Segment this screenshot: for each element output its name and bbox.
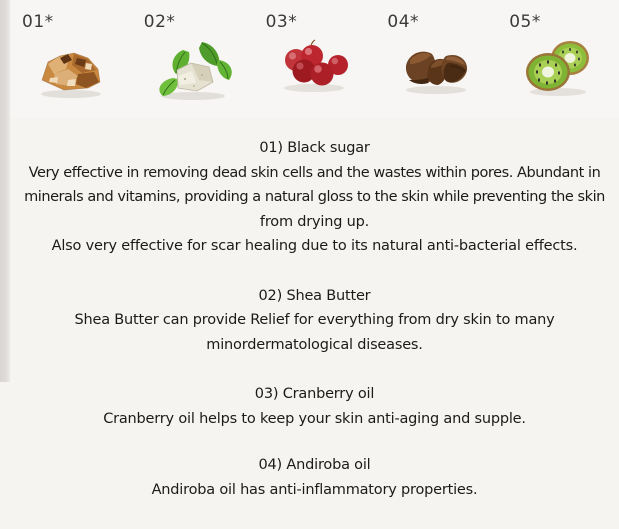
section-cranberry-oil: 03) Cranberry oil Cranberry oil helps to… — [10, 382, 619, 431]
left-gutter-strip — [0, 0, 10, 382]
kiwi-icon — [497, 36, 619, 108]
section-andiroba-oil: 04) Andiroba oil Andiroba oil has anti-i… — [10, 453, 619, 502]
thumbnail-label-04: 04* — [387, 12, 419, 32]
thumbnail-cell-05: 05* — [497, 0, 619, 118]
black-sugar-icon — [10, 36, 132, 108]
section-title-02: 02) Shea Butter — [10, 284, 619, 309]
thumbnail-cell-01: 01* — [10, 0, 132, 118]
section-01-line-2: minerals and vitamins, providing a natur… — [10, 185, 619, 210]
ingredient-description-panel: 01) Black sugar Very effective in removi… — [10, 118, 619, 529]
section-02-line-2: minordermatological diseases. — [10, 333, 619, 358]
shea-butter-icon — [132, 36, 254, 108]
ingredient-info-page: 01* 02* — [0, 0, 619, 529]
thumbnail-cell-02: 02* — [132, 0, 254, 118]
section-03-line-1: Cranberry oil helps to keep your skin an… — [10, 407, 619, 432]
andiroba-nut-icon — [375, 36, 497, 108]
section-01-line-1: Very effective in removing dead skin cel… — [10, 161, 619, 186]
section-title-01: 01) Black sugar — [10, 136, 619, 161]
section-02-line-1: Shea Butter can provide Relief for every… — [10, 308, 619, 333]
thumbnail-label-01: 01* — [22, 12, 54, 32]
section-shea-butter: 02) Shea Butter Shea Butter can provide … — [10, 284, 619, 358]
section-01-line-4: Also very effective for scar healing due… — [10, 234, 619, 259]
thumbnail-cell-03: 03* — [254, 0, 376, 118]
ingredient-thumbnail-strip: 01* 02* — [10, 0, 619, 118]
section-black-sugar: 01) Black sugar Very effective in removi… — [10, 136, 619, 259]
thumbnail-label-02: 02* — [144, 12, 176, 32]
section-01-line-3: from drying up. — [10, 210, 619, 235]
thumbnail-cell-04: 04* — [375, 0, 497, 118]
section-title-04: 04) Andiroba oil — [10, 453, 619, 478]
thumbnail-label-05: 05* — [509, 12, 541, 32]
section-title-03: 03) Cranberry oil — [10, 382, 619, 407]
thumbnail-label-03: 03* — [266, 12, 298, 32]
section-04-line-1: Andiroba oil has anti-inflammatory prope… — [10, 478, 619, 503]
cranberry-icon — [254, 36, 376, 108]
